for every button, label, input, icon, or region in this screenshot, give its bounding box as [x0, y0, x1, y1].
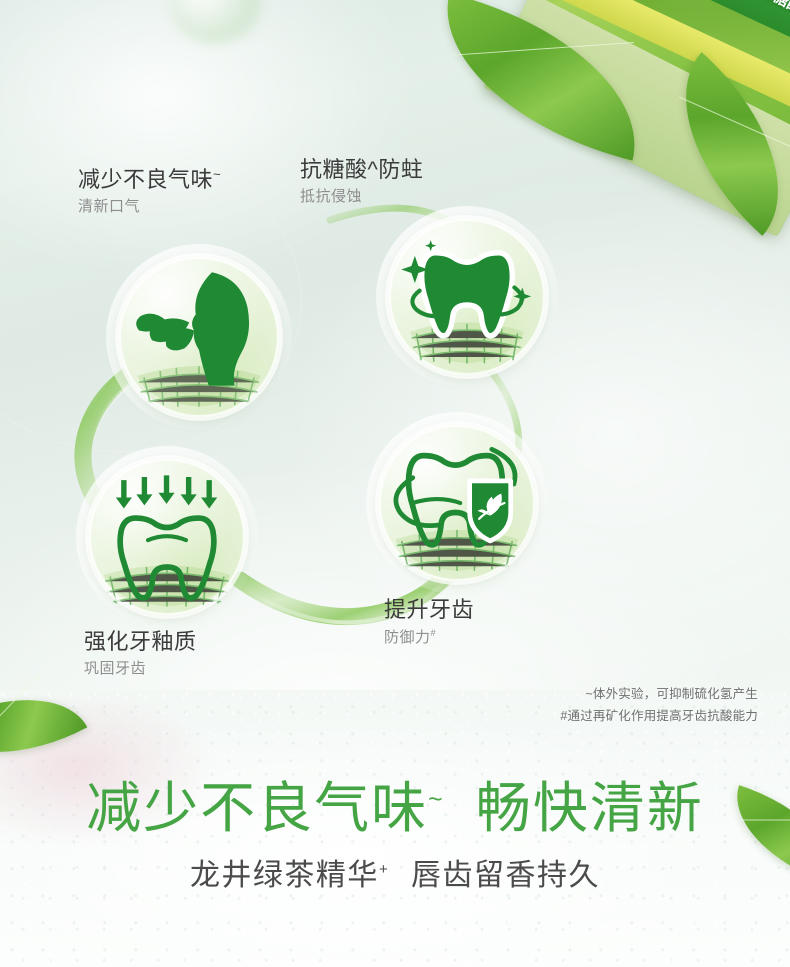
benefit-subtitle: 抵抗侵蚀: [300, 187, 423, 207]
benefit-label-boost-defense: 提升牙齿 防御力#: [384, 596, 474, 648]
benefit-circle-anti-cavity: [388, 218, 546, 376]
headline-sub: 龙井绿茶精华+ 唇齿留香持久: [0, 850, 790, 894]
benefit-circle-fresh-breath: [118, 256, 280, 418]
benefit-label-strengthen-enamel: 强化牙釉质 巩固牙齿: [84, 628, 197, 679]
benefit-circle-strengthen-enamel: [88, 458, 246, 616]
benefit-title: 强化牙釉质: [84, 628, 197, 656]
benefit-label-fresh-breath: 减少不良气味~ 清新口气: [78, 166, 221, 217]
benefit-subtitle: 清新口气: [78, 197, 221, 217]
benefit-title: 减少不良气味~: [78, 166, 221, 194]
footnote-item: ~体外实验，可抑制硫化氢产生: [560, 684, 758, 706]
footnote-block: ~体外实验，可抑制硫化氢产生 #通过再矿化作用提高牙齿抗酸能力: [560, 684, 758, 728]
benefit-circle-boost-defense: [378, 424, 536, 582]
benefit-title: 提升牙齿: [384, 596, 474, 624]
footnote-item: #通过再矿化作用提高牙齿抗酸能力: [560, 706, 758, 728]
promo-canvas: 茶倍健 龙井绿茶 清新健齿·抗糖酸 初萃茶多酚: [0, 0, 790, 967]
benefit-label-anti-cavity: 抗糖酸^防蛀 抵抗侵蚀: [300, 156, 423, 207]
benefit-title: 抗糖酸^防蛀: [300, 156, 423, 184]
headline-main: 减少不良气味~ 畅快清新: [0, 778, 790, 840]
headline-block: 减少不良气味~ 畅快清新 龙井绿茶精华+ 唇齿留香持久: [0, 778, 790, 894]
benefit-subtitle: 巩固牙齿: [84, 659, 197, 679]
benefit-subtitle: 防御力#: [384, 627, 474, 648]
